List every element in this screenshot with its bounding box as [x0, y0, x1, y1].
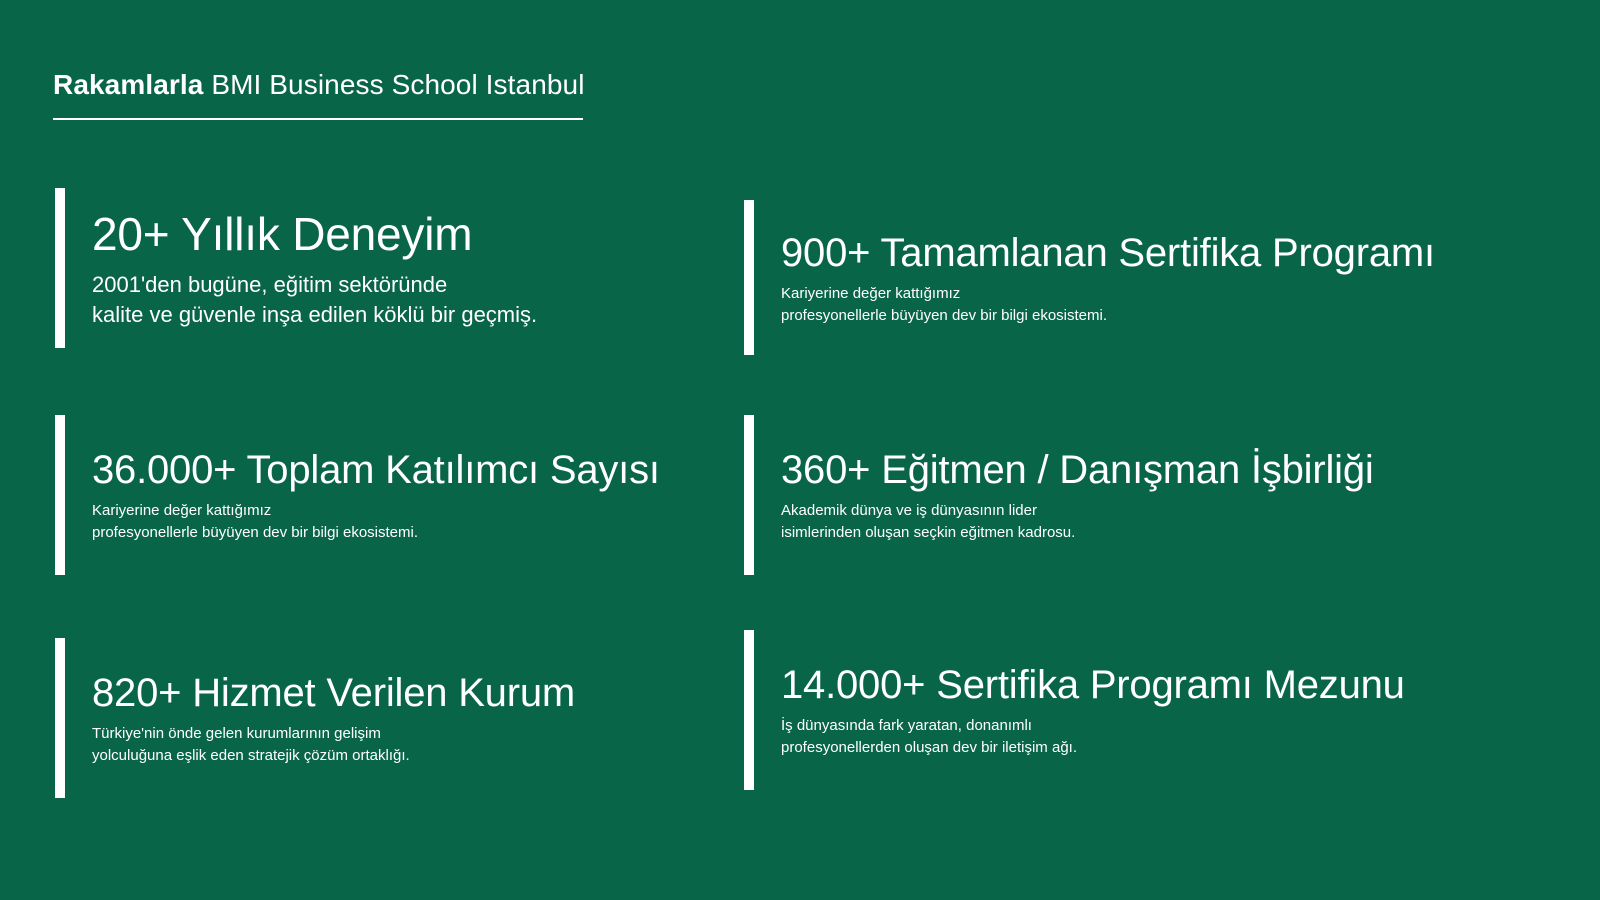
accent-bar	[744, 200, 754, 355]
stat-card-served-institutions: 820+ Hizmet Verilen Kurum Türkiye'nin ön…	[55, 638, 575, 798]
stat-card-completed-certificate-programs: 900+ Tamamlanan Sertifika Programı Kariy…	[744, 200, 1435, 355]
stat-card-body: 14.000+ Sertifika Programı Mezunu İş dün…	[754, 630, 1405, 790]
stat-card-certificate-program-graduates: 14.000+ Sertifika Programı Mezunu İş dün…	[744, 630, 1405, 790]
stat-description: İş dünyasında fark yaratan, donanımlı pr…	[781, 715, 1405, 759]
stat-title: 36.000+ Toplam Katılımcı Sayısı	[92, 446, 660, 494]
stat-card-body: 36.000+ Toplam Katılımcı Sayısı Kariyeri…	[65, 415, 660, 575]
stat-title: 20+ Yıllık Deneyim	[92, 206, 537, 262]
stat-title: 820+ Hizmet Verilen Kurum	[92, 669, 575, 717]
accent-bar	[744, 630, 754, 790]
stat-card-trainer-consultant-collaboration: 360+ Eğitmen / Danışman İşbirliği Akadem…	[744, 415, 1374, 575]
accent-bar	[55, 415, 65, 575]
stats-grid: 20+ Yıllık Deneyim 2001'den bugüne, eğit…	[0, 0, 1600, 900]
stat-title: 900+ Tamamlanan Sertifika Programı	[781, 229, 1435, 277]
stat-card-body: 900+ Tamamlanan Sertifika Programı Kariy…	[754, 200, 1435, 355]
stat-description: 2001'den bugüne, eğitim sektöründe kalit…	[92, 270, 537, 330]
accent-bar	[55, 638, 65, 798]
accent-bar	[55, 188, 65, 348]
stat-card-total-participants: 36.000+ Toplam Katılımcı Sayısı Kariyeri…	[55, 415, 660, 575]
stat-description: Akademik dünya ve iş dünyasının lider is…	[781, 500, 1374, 544]
stat-description: Türkiye'nin önde gelen kurumlarının geli…	[92, 723, 575, 767]
stat-title: 360+ Eğitmen / Danışman İşbirliği	[781, 446, 1374, 494]
stat-title: 14.000+ Sertifika Programı Mezunu	[781, 661, 1405, 709]
accent-bar	[744, 415, 754, 575]
stat-description: Kariyerine değer kattığımız profesyonell…	[92, 500, 660, 544]
stat-card-body: 360+ Eğitmen / Danışman İşbirliği Akadem…	[754, 415, 1374, 575]
stat-description: Kariyerine değer kattığımız profesyonell…	[781, 283, 1435, 327]
stat-card-body: 20+ Yıllık Deneyim 2001'den bugüne, eğit…	[65, 188, 537, 348]
stat-card-body: 820+ Hizmet Verilen Kurum Türkiye'nin ön…	[65, 638, 575, 798]
stat-card-years-experience: 20+ Yıllık Deneyim 2001'den bugüne, eğit…	[55, 188, 537, 348]
